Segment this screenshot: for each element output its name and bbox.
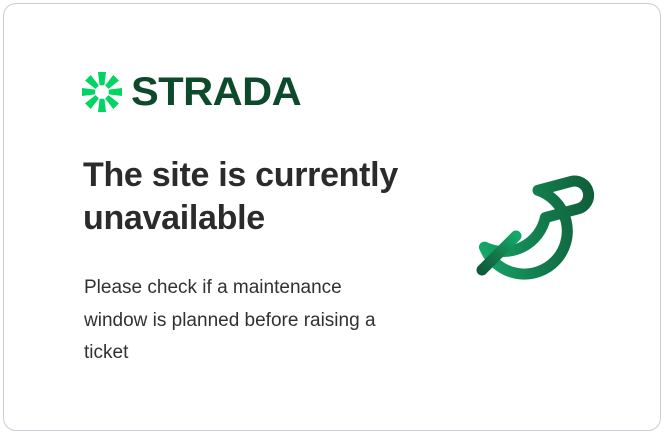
- wrench-icon: [456, 152, 616, 322]
- brand-wordmark: STRADA: [131, 72, 301, 112]
- brand-logo: STRADA: [82, 72, 295, 112]
- page-description: Please check if a maintenance window is …: [84, 272, 394, 370]
- status-card: STRADA The site is currently unavailable…: [3, 3, 661, 431]
- strada-asterisk-icon: [82, 72, 122, 112]
- page-title: The site is currently unavailable: [83, 154, 423, 240]
